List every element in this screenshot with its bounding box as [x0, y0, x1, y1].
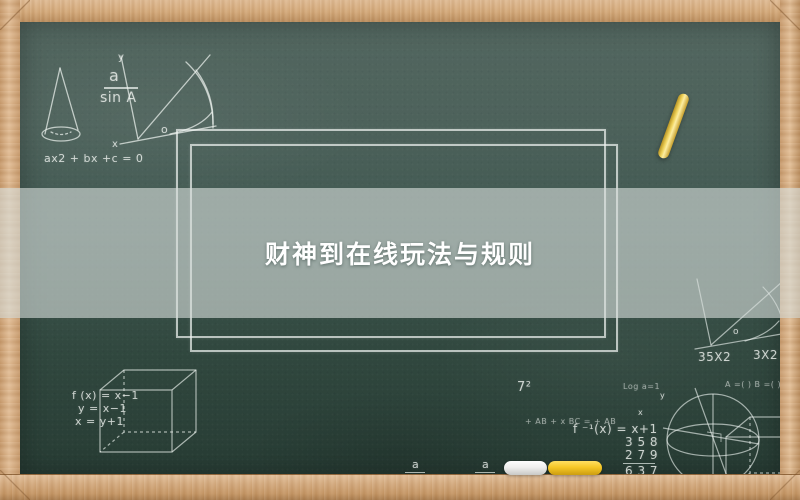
- chalk-mult-3x2: 3X2: [753, 348, 778, 362]
- page-title: 财神到在线玩法与规则: [0, 188, 800, 318]
- chalkboard-banner: a sin A y x o ax2 + bx +c = 0 f (x) = x−…: [0, 0, 800, 500]
- chalk-mult-35x2: 35X2: [698, 350, 731, 364]
- chalk-stick-yellow-ledge-icon: [548, 461, 602, 475]
- chalk-stick-white-icon: [504, 461, 547, 475]
- chalk-matrix-note: A =( ) B =( ) I =( ): [725, 380, 780, 389]
- cube-diagram-right: [712, 407, 780, 475]
- chalk-axis-y-right: y: [660, 391, 665, 400]
- chalk-angle-label-right: o: [733, 327, 739, 337]
- frame-top-rail: [0, 0, 800, 23]
- chalk-ledge: [0, 474, 800, 500]
- chalk-log-label: Log a=1: [623, 382, 660, 391]
